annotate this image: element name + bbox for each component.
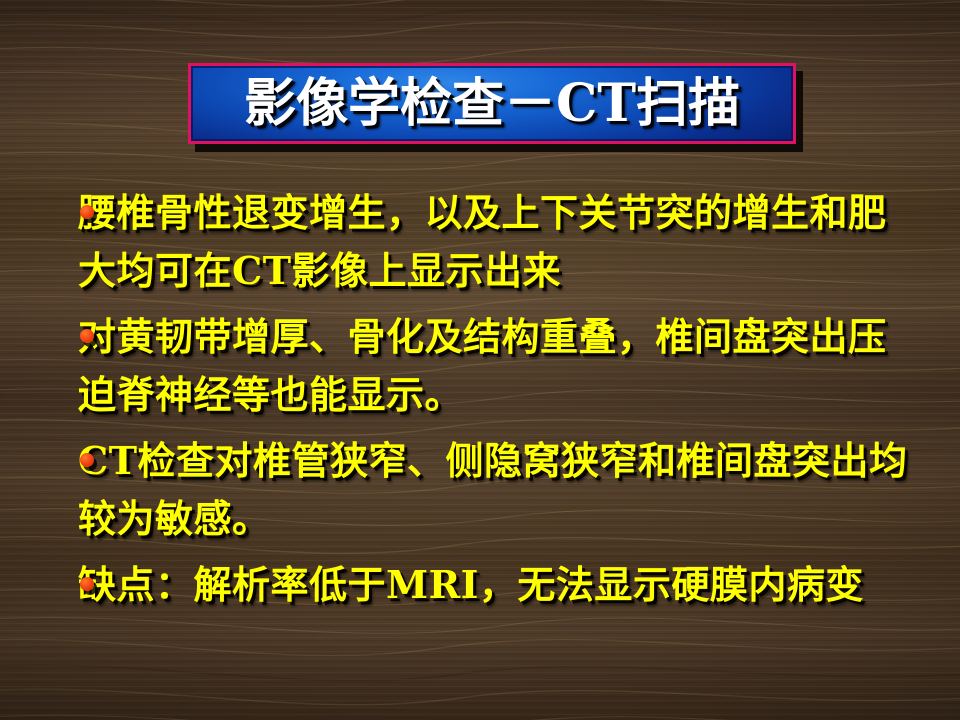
bullet-text: CT检查对椎管狭窄、侧隐窝狭窄和椎间盘突出均较为敏感。 [78, 432, 920, 548]
bullet-dot-icon [80, 577, 94, 591]
bullet-dot-icon [80, 205, 94, 219]
bullet-list: 腰椎骨性退变增生，以及上下关节突的增生和肥大均可在CT影像上显示出来 对黄韧带增… [0, 184, 960, 622]
bullet-dot-icon [80, 329, 94, 343]
list-item: 腰椎骨性退变增生，以及上下关节突的增生和肥大均可在CT影像上显示出来 [0, 184, 960, 300]
slide-title: 影像学检查－CT扫描 [244, 78, 740, 130]
presentation-slide: 影像学检查－CT扫描 腰椎骨性退变增生，以及上下关节突的增生和肥大均可在CT影像… [0, 0, 960, 720]
list-item: 缺点：解析率低于MRI，无法显示硬膜内病变 [0, 556, 960, 614]
bullet-text: 对黄韧带增厚、骨化及结构重叠，椎间盘突出压迫脊神经等也能显示。 [78, 308, 920, 424]
slide-title-box: 影像学检查－CT扫描 [188, 63, 796, 144]
bullet-text: 缺点：解析率低于MRI，无法显示硬膜内病变 [78, 556, 920, 614]
bullet-text: 腰椎骨性退变增生，以及上下关节突的增生和肥大均可在CT影像上显示出来 [78, 184, 920, 300]
list-item: 对黄韧带增厚、骨化及结构重叠，椎间盘突出压迫脊神经等也能显示。 [0, 308, 960, 424]
bullet-dot-icon [80, 453, 94, 467]
list-item: CT检查对椎管狭窄、侧隐窝狭窄和椎间盘突出均较为敏感。 [0, 432, 960, 548]
